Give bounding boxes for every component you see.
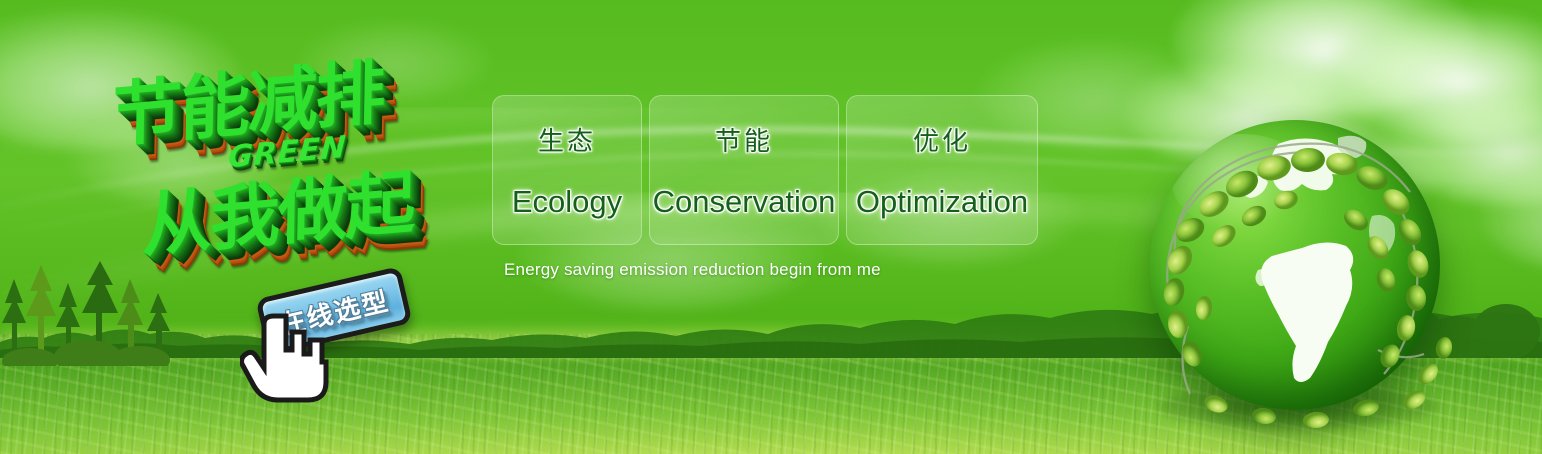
cloud-icon	[1175, 0, 1475, 116]
feature-label-cn: 节能	[715, 121, 773, 158]
feature-label-cn: 优化	[913, 121, 971, 158]
globe-vine-leaves	[1128, 112, 1460, 444]
conifer-trees	[0, 261, 180, 366]
feature-box-conservation[interactable]: 节能 Conservation	[649, 95, 839, 245]
feature-label-en: Optimization	[856, 184, 1028, 220]
hero-headline: 节能减排 GREEN 从我做起	[100, 40, 490, 275]
eco-banner: 节能减排 GREEN 从我做起 生态 Ecology 节能 Conservati…	[0, 0, 1542, 454]
eco-globe	[1128, 112, 1460, 444]
cloud-icon	[1480, 160, 1542, 270]
cta-area: 在线选型	[252, 272, 422, 382]
feature-box-group: 生态 Ecology 节能 Conservation 优化 Optimizati…	[492, 95, 1038, 245]
feature-label-en: Conservation	[653, 184, 836, 220]
headline-line-2: 从我做起	[142, 146, 415, 271]
feature-box-ecology[interactable]: 生态 Ecology	[492, 95, 642, 245]
tagline: Energy saving emission reduction begin f…	[504, 260, 881, 280]
feature-label-en: Ecology	[512, 184, 622, 220]
feature-box-optimization[interactable]: 优化 Optimization	[846, 95, 1038, 245]
pointing-hand-cursor-icon	[240, 310, 330, 406]
feature-label-cn: 生态	[538, 121, 596, 158]
